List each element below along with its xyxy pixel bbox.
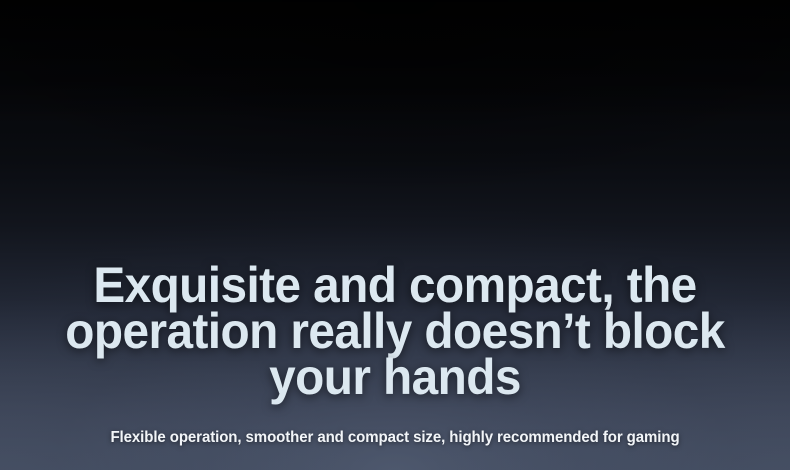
headline-line-2: operation really doesn’t block [18,308,772,354]
banner-headline: Exquisite and compact, the operation rea… [18,262,772,400]
headline-line-1: Exquisite and compact, the [18,262,772,308]
headline-line-3: your hands [18,354,772,400]
product-feature-banner: Exquisite and compact, the operation rea… [0,0,790,470]
banner-content: Exquisite and compact, the operation rea… [0,0,790,470]
banner-subheadline: Flexible operation, smoother and compact… [12,400,778,448]
